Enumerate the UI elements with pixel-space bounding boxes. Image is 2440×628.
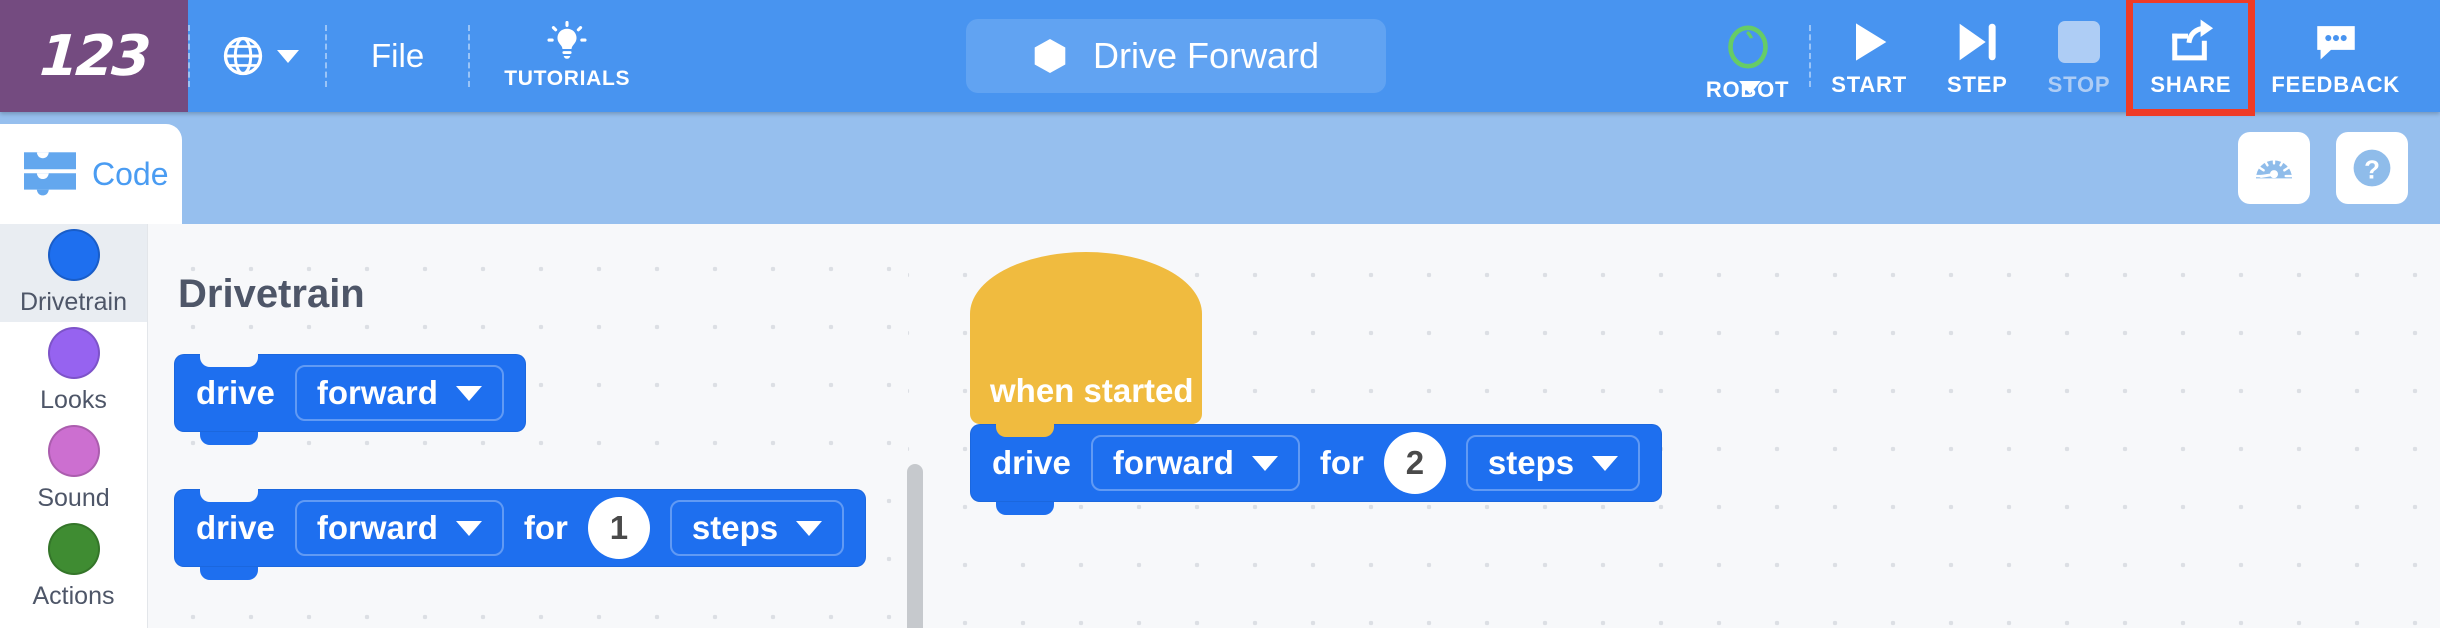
project-title-button[interactable]: Drive Forward [966, 19, 1386, 93]
tab-code-label: Code [92, 156, 169, 193]
palette-block-drive-for-units[interactable]: drive forward for 1 steps [174, 489, 866, 567]
play-icon [1843, 14, 1895, 70]
lightbulb-icon [545, 21, 589, 65]
comment-dots-icon [2311, 14, 2361, 70]
sidebar-item-label: Drivetrain [20, 288, 127, 317]
share-button[interactable]: SHARE [2130, 0, 2251, 112]
stop-square-icon [2058, 14, 2100, 70]
globe-icon [222, 35, 264, 77]
block-for-word: for [1320, 444, 1364, 482]
drivetrain-color-dot [48, 229, 100, 281]
block-verb: drive [196, 374, 275, 412]
sound-color-dot [48, 425, 100, 477]
step-button[interactable]: STEP [1927, 0, 2028, 112]
sidebar-item-looks[interactable]: Looks [0, 322, 147, 420]
looks-color-dot [48, 327, 100, 379]
tab-code[interactable]: Code [0, 124, 182, 224]
tabbar-right-buttons: ? [2238, 112, 2408, 224]
vexcode-123-app: 123 File [0, 0, 2440, 628]
direction-dropdown[interactable]: forward [295, 500, 504, 556]
actions-color-dot [48, 523, 100, 575]
units-value: steps [692, 509, 778, 547]
code-workspace[interactable]: when started drive forward for 2 steps [908, 224, 2440, 628]
amount-input[interactable]: 2 [1384, 432, 1446, 494]
gauge-icon [2251, 145, 2297, 191]
hexagon-icon [1033, 37, 1067, 75]
app-logo[interactable]: 123 [0, 0, 188, 112]
step-label: STEP [1947, 72, 2008, 98]
tutorials-button[interactable]: TUTORIALS [470, 0, 664, 112]
block-for-word: for [524, 509, 568, 547]
chevron-down-icon [456, 521, 482, 536]
chevron-down-icon [1739, 81, 1761, 94]
share-icon [2166, 14, 2216, 70]
sidebar-item-sound[interactable]: Sound [0, 420, 147, 518]
file-menu[interactable]: File [327, 0, 468, 112]
block-palette[interactable]: Drivetrain drive forward drive forward f… [148, 224, 908, 628]
secondary-tab-bar: Code [0, 112, 2440, 224]
top-toolbar: 123 File [0, 0, 2440, 112]
language-selector[interactable] [190, 0, 325, 112]
direction-dropdown[interactable]: forward [1091, 435, 1300, 491]
direction-value: forward [1113, 444, 1234, 482]
start-button[interactable]: START [1811, 0, 1927, 112]
question-mark-icon: ? [2349, 145, 2395, 191]
chevron-down-icon [1592, 456, 1618, 471]
chevron-down-icon [1252, 456, 1278, 471]
direction-value: forward [317, 509, 438, 547]
palette-title: Drivetrain [178, 272, 365, 317]
hat-block-top [970, 252, 1202, 322]
chevron-down-icon [456, 386, 482, 401]
amount-input[interactable]: 1 [588, 497, 650, 559]
chevron-down-icon [277, 50, 299, 63]
logo-text: 123 [38, 24, 150, 89]
block-verb: drive [196, 509, 275, 547]
stop-button[interactable]: STOP [2028, 0, 2131, 112]
sidebar-item-label: Sound [37, 484, 109, 513]
robot-button[interactable]: ROBOT [1688, 0, 1809, 112]
palette-block-drive-direction[interactable]: drive forward [174, 354, 526, 432]
step-forward-icon [1951, 14, 2003, 70]
share-label: SHARE [2150, 72, 2231, 98]
project-title-area: Drive Forward [664, 0, 1688, 112]
sidebar-item-drivetrain[interactable]: Drivetrain [0, 224, 147, 322]
direction-dropdown[interactable]: forward [295, 365, 504, 421]
feedback-button[interactable]: FEEDBACK [2251, 0, 2420, 112]
block-verb: drive [992, 444, 1071, 482]
hat-block-label: when started [990, 372, 1194, 410]
workspace-hat-block-when-started[interactable]: when started [970, 314, 1202, 424]
dashboard-button[interactable] [2238, 132, 2310, 204]
sidebar-item-actions[interactable]: Actions [0, 518, 147, 616]
page-title: Drive Forward [1093, 35, 1319, 77]
units-value: steps [1488, 444, 1574, 482]
robot-brain-icon [1723, 19, 1773, 75]
stop-label: STOP [2048, 72, 2111, 98]
start-label: START [1831, 72, 1907, 98]
code-blocks-icon [22, 150, 78, 198]
header-right-tools: ROBOT START STEP [1688, 0, 2440, 112]
help-button[interactable]: ? [2336, 132, 2408, 204]
sidebar-item-label: Actions [33, 582, 115, 611]
category-rail: Drivetrain Looks Sound Actions [0, 224, 148, 628]
header-left-group: File TUTORIALS [188, 0, 664, 112]
main-area: Drivetrain Looks Sound Actions Drivetrai… [0, 224, 2440, 628]
sidebar-item-label: Looks [40, 386, 107, 415]
units-dropdown[interactable]: steps [670, 500, 844, 556]
direction-value: forward [317, 374, 438, 412]
workspace-block-drive-for-units[interactable]: drive forward for 2 steps [970, 424, 1662, 502]
feedback-label: FEEDBACK [2271, 72, 2400, 98]
chevron-down-icon [796, 521, 822, 536]
palette-scrollbar[interactable] [907, 464, 923, 628]
units-dropdown[interactable]: steps [1466, 435, 1640, 491]
svg-text:?: ? [2364, 156, 2380, 184]
tutorials-label: TUTORIALS [504, 67, 630, 91]
